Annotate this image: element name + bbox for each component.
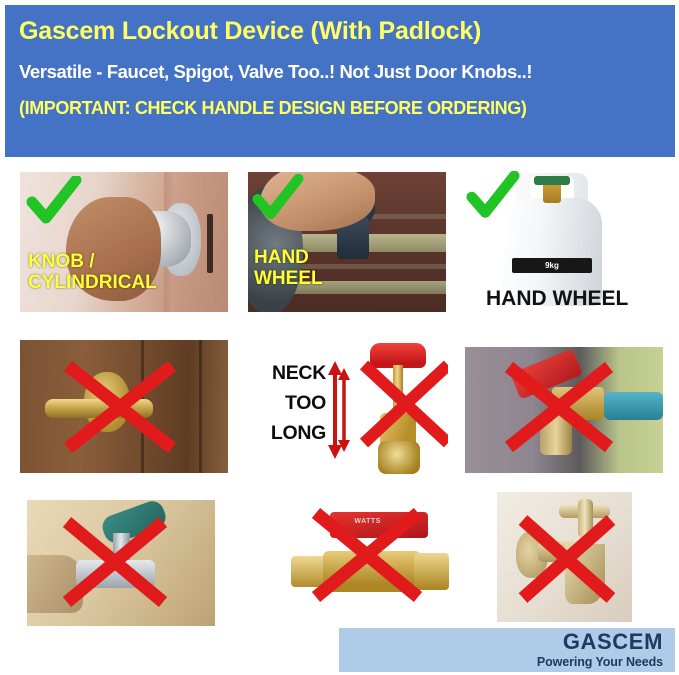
- header-important-note: (IMPORTANT: CHECK HANDLE DESIGN BEFORE O…: [19, 99, 661, 119]
- cylinder-weight-band: 9kg: [512, 258, 591, 273]
- tile-red-lever-hose-tap: [465, 347, 663, 473]
- page-title: Gascem Lockout Device (With Padlock): [19, 17, 661, 46]
- tile-label-hand-wheel: HAND WHEEL: [254, 248, 323, 289]
- tile-knob-cylindrical: KNOB / CYLINDRICAL: [20, 172, 228, 312]
- needle-neck-arrow-icon: [337, 367, 351, 453]
- brand-tagline: Powering Your Needs: [537, 655, 663, 669]
- tile-label-cylinder-hand-wheel: HAND WHEEL: [486, 287, 628, 311]
- tile-antique-brass-cross-tap: [497, 492, 632, 622]
- antique-tap-photo: [497, 492, 632, 622]
- header-banner: Gascem Lockout Device (With Padlock) Ver…: [5, 5, 675, 157]
- needle-valve-photo: [348, 337, 448, 477]
- wood-door-lever-photo: [20, 340, 228, 473]
- green-check-icon: [26, 176, 82, 230]
- tile-teal-handle-wall-tap: [27, 500, 215, 626]
- ball-valve-photo: WATTS: [284, 497, 460, 619]
- neck-warning-line-3: LONG: [248, 418, 326, 448]
- tile-red-top-needle-valve: [348, 337, 448, 477]
- brand-name: GASCEM: [563, 629, 663, 655]
- neck-warning-line-2: TOO: [248, 388, 326, 418]
- tile-label-knob: KNOB / CYLINDRICAL: [28, 252, 157, 293]
- neck-warning-line-1: NECK: [248, 358, 326, 388]
- cylinder-weight-label: 9kg: [512, 258, 591, 273]
- tile-gas-cylinder: 9kg HAND WHEEL: [462, 165, 642, 315]
- hose-tap-photo: [465, 347, 663, 473]
- footer-logo-bar: GASCEM Powering Your Needs: [339, 628, 675, 672]
- green-check-icon: [466, 171, 520, 225]
- green-check-icon: [252, 174, 304, 226]
- neck-too-long-warning: NECK TOO LONG: [248, 358, 326, 463]
- tile-hand-wheel-valve: HAND WHEEL: [248, 172, 446, 312]
- wall-tap-photo: [27, 500, 215, 626]
- header-subtitle: Versatile - Faucet, Spigot, Valve Too..!…: [19, 62, 661, 82]
- tile-lever-door-handle: [20, 340, 228, 473]
- tile-brass-ball-valve: WATTS: [284, 497, 460, 619]
